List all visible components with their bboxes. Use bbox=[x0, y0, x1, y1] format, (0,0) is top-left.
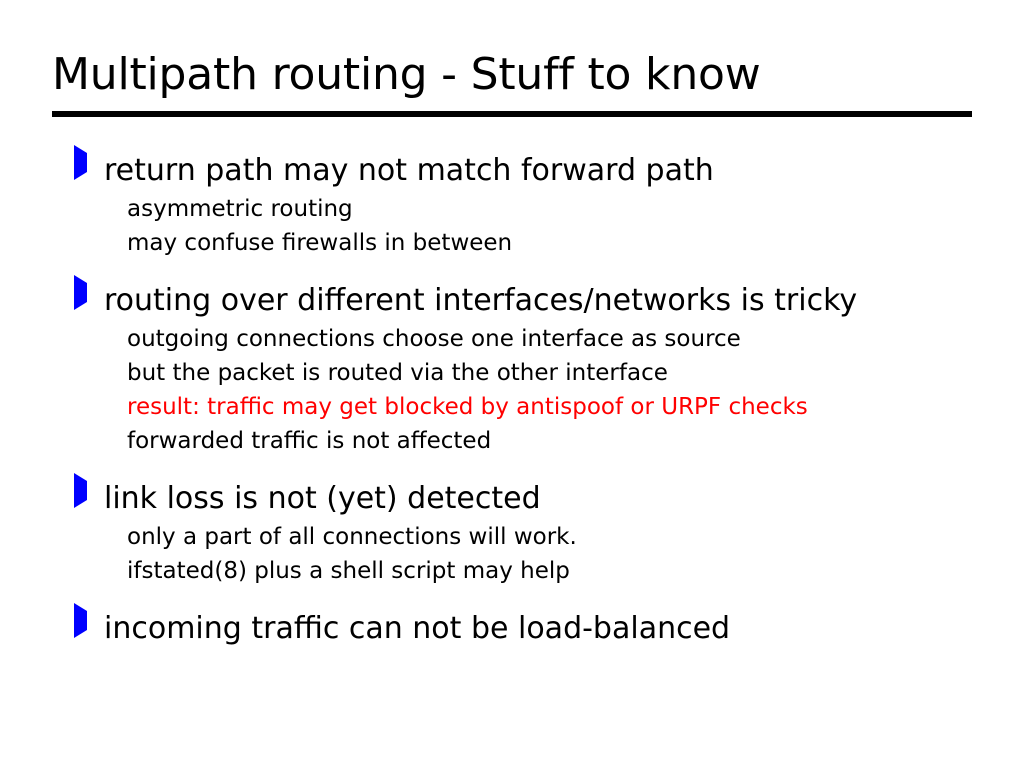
bullet-level2: may confuse firewalls in between bbox=[0, 226, 1024, 260]
bullet-level1: incoming traffic can not be load-balance… bbox=[0, 610, 1024, 648]
bullet-group: link loss is not (yet) detectedonly a pa… bbox=[0, 480, 1024, 588]
slide-body: return path may not match forward pathas… bbox=[0, 152, 1024, 650]
bullet-level1-label: link loss is not (yet) detected bbox=[104, 480, 541, 518]
bullet-level2-label: may confuse firewalls in between bbox=[127, 226, 512, 260]
title-underline-rule bbox=[52, 111, 972, 117]
bullet-level2-label: asymmetric routing bbox=[127, 192, 353, 226]
slide: Multipath routing - Stuff to know return… bbox=[0, 0, 1024, 768]
bullet-level2: but the packet is routed via the other i… bbox=[0, 356, 1024, 390]
bullet-level1: routing over different interfaces/networ… bbox=[0, 282, 1024, 320]
bullet-level1-label: routing over different interfaces/networ… bbox=[104, 282, 857, 320]
bullet-level1: link loss is not (yet) detected bbox=[0, 480, 1024, 518]
slide-title-block: Multipath routing - Stuff to know bbox=[52, 48, 972, 102]
bullet-level2: result: traffic may get blocked by antis… bbox=[0, 390, 1024, 424]
bullet-level2: ifstated(8) plus a shell script may help bbox=[0, 554, 1024, 588]
bullet-level2: outgoing connections choose one interfac… bbox=[0, 322, 1024, 356]
bullet-level2: only a part of all connections will work… bbox=[0, 520, 1024, 554]
bullet-level2-label: forwarded traffic is not affected bbox=[127, 424, 491, 458]
bullet-level2-label: result: traffic may get blocked by antis… bbox=[127, 390, 808, 424]
bullet-level1-label: incoming traffic can not be load-balance… bbox=[104, 610, 730, 648]
bullet-group: incoming traffic can not be load-balance… bbox=[0, 610, 1024, 648]
bullet-level2-label: only a part of all connections will work… bbox=[127, 520, 577, 554]
bullet-level1-label: return path may not match forward path bbox=[104, 152, 714, 190]
bullet-level2: asymmetric routing bbox=[0, 192, 1024, 226]
page-title: Multipath routing - Stuff to know bbox=[52, 48, 972, 102]
bullet-level2: forwarded traffic is not affected bbox=[0, 424, 1024, 458]
bullet-level2-label: outgoing connections choose one interfac… bbox=[127, 322, 741, 356]
bullet-level2-label: but the packet is routed via the other i… bbox=[127, 356, 668, 390]
bullet-group: routing over different interfaces/networ… bbox=[0, 282, 1024, 458]
bullet-group: return path may not match forward pathas… bbox=[0, 152, 1024, 260]
bullet-level2-label: ifstated(8) plus a shell script may help bbox=[127, 554, 570, 588]
bullet-level1: return path may not match forward path bbox=[0, 152, 1024, 190]
